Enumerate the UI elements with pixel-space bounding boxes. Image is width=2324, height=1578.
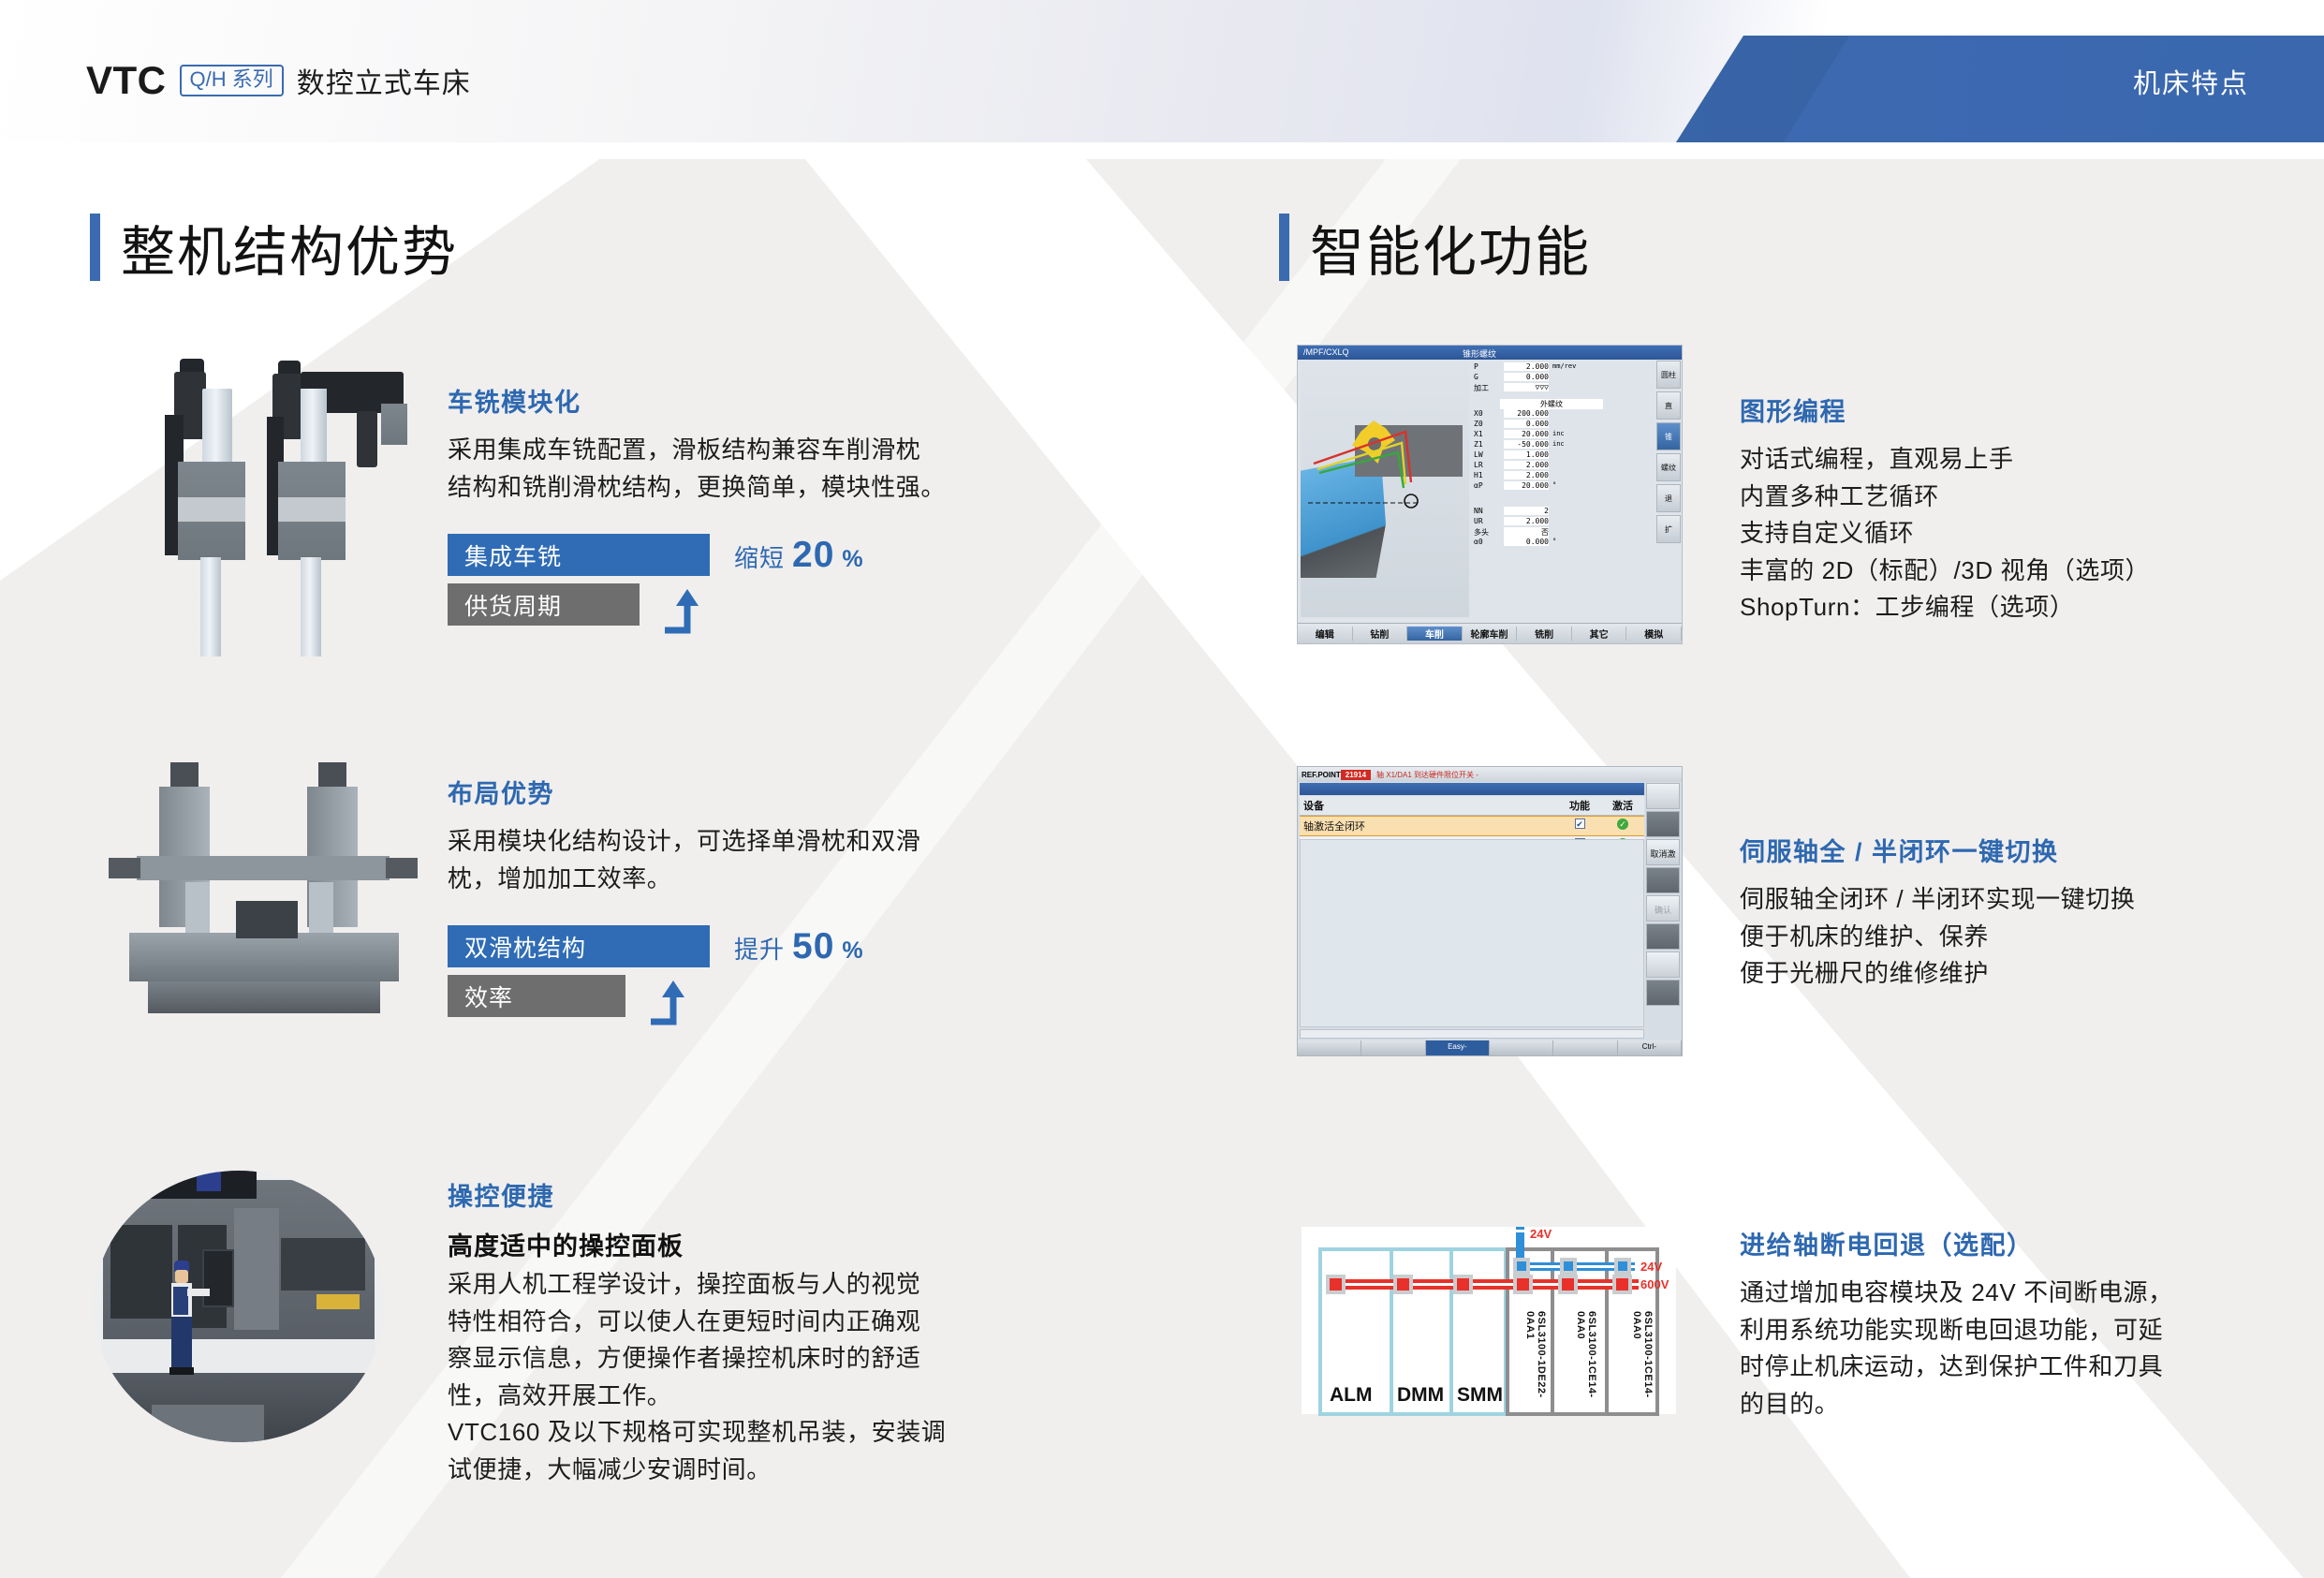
- cnc-param-key: Z0: [1474, 420, 1483, 428]
- cnc-toolpath-overlay: [1301, 362, 1469, 617]
- trend-arrow-icon: [663, 589, 715, 634]
- bar-note: 提升 50 %: [734, 926, 864, 967]
- label-24v-supply: 24V: [1530, 1227, 1552, 1241]
- feature-body: 伺服轴全闭环 / 半闭环实现一键切换 便于机床的维护、保养 便于光栅尺的维修维护: [1740, 881, 2245, 993]
- connector-24v: [1614, 1258, 1631, 1275]
- connector-600v: [1558, 1275, 1578, 1294]
- servo-col-function: 功能: [1558, 796, 1601, 815]
- feature-title: 布局优势: [448, 774, 972, 810]
- cnc-softkey[interactable]: 车削: [1407, 627, 1463, 641]
- feature-body: 采用模块化结构设计，可选择单滑枕和双滑 枕，增加加工效率。: [448, 823, 972, 897]
- cnc-path-title: /MPF/CXLQ: [1303, 347, 1349, 357]
- diagram-power-modules: 24V 24V 600V ALM DMM SMM 6SL3100-: [1302, 1227, 1676, 1414]
- connector-24v: [1560, 1258, 1577, 1275]
- cnc-vertical-softkey[interactable]: 退: [1656, 484, 1681, 512]
- bar-note-value: 20: [792, 535, 834, 576]
- cnc-param-row[interactable]: αP20.000°: [1472, 481, 1612, 492]
- feature-subtitle: 高度适中的操控面板: [448, 1226, 972, 1262]
- cnc-param-unit: °: [1552, 538, 1556, 545]
- cnc-vertical-softkeys[interactable]: 圆柱直锥螺纹退扩: [1656, 361, 1681, 546]
- page-header: VTC Q/H 系列 数控立式车床 机床特点: [0, 0, 2324, 142]
- servo-softkey[interactable]: [1646, 923, 1680, 950]
- feature-block-layout: 布局优势 采用模块化结构设计，可选择单滑枕和双滑 枕，增加加工效率。 双滑枕结构…: [448, 774, 972, 1017]
- cnc-param-row[interactable]: G0.000: [1472, 373, 1612, 383]
- section-title-left: 整机结构优势: [90, 208, 458, 287]
- feature-title: 进给轴断电回退（选配）: [1740, 1225, 2264, 1261]
- cnc-softkey[interactable]: 轮廓车削: [1463, 627, 1518, 641]
- cnc-vertical-softkey[interactable]: 扩: [1656, 515, 1681, 543]
- bar-chart-turn-mill: 集成车铣 缩短 20 % 供货周期: [448, 534, 972, 626]
- feature-title: 操控便捷: [448, 1176, 972, 1213]
- connector-24v: [1513, 1258, 1530, 1275]
- feature-body: 通过增加电容模块及 24V 不间断电源， 利用系统功能实现断电回退功能，可延 时…: [1740, 1275, 2264, 1423]
- servo-softkey[interactable]: [1646, 980, 1680, 1006]
- servo-row-func[interactable]: ✔: [1558, 817, 1601, 835]
- cnc-parameter-list: P2.000mm/revG0.000加工▽▽▽外螺纹X0200.000Z00.0…: [1472, 362, 1612, 610]
- cnc-param-key: 加工: [1474, 383, 1489, 393]
- servo-content-area: [1300, 839, 1644, 1027]
- brand-name: VTC: [86, 58, 167, 103]
- cnc-param-row[interactable]: P2.000mm/rev: [1472, 362, 1612, 373]
- label-600v-bus: 600V: [1640, 1277, 1669, 1291]
- connector-600v: [1612, 1275, 1632, 1294]
- cnc-param-unit: inc: [1552, 430, 1565, 437]
- cnc-param-row[interactable]: X120.000inc: [1472, 430, 1612, 440]
- bar-note-prefix: 缩短: [734, 539, 785, 574]
- servo-softkey[interactable]: [1646, 951, 1680, 978]
- cnc-param-value[interactable]: -50.000: [1504, 440, 1549, 449]
- servo-footer-cell[interactable]: [1553, 1040, 1617, 1055]
- cnc-param-key: 多头: [1474, 527, 1489, 538]
- cnc-softkey[interactable]: 编辑: [1298, 627, 1353, 641]
- cnc-thread-type[interactable]: 外螺纹: [1472, 399, 1612, 409]
- servo-alarm-text: 轴 X1/DA1 到达硬件限位开关 -: [1376, 770, 1478, 780]
- cnc-softkey[interactable]: 钻削: [1353, 627, 1408, 641]
- cnc-param-unit: mm/rev: [1552, 362, 1576, 370]
- bar-chart-layout: 双滑枕结构 提升 50 % 效率: [448, 925, 972, 1017]
- series-badge: Q/H 系列: [180, 65, 284, 96]
- cnc-horizontal-softkeys[interactable]: 编辑钻削车削轮廓车削铣削其它模拟: [1298, 623, 1682, 643]
- feature-title: 图形编程: [1740, 391, 2227, 428]
- servo-footer-easy[interactable]: Easy-: [1426, 1040, 1490, 1055]
- cnc-param-value[interactable]: 0.000: [1504, 538, 1549, 546]
- cnc-vertical-softkey[interactable]: 圆柱: [1656, 361, 1681, 389]
- bar-secondary: 供货周期: [448, 583, 640, 626]
- servo-footer-cell[interactable]: [1490, 1040, 1553, 1055]
- feature-body: 对话式编程，直观易上手 内置多种工艺循环 支持自定义循环 丰富的 2D（标配）/…: [1740, 441, 2227, 627]
- cnc-param-key: G: [1474, 373, 1478, 381]
- cnc-param-key: NN: [1474, 507, 1483, 515]
- feature-block-turn-mill: 车铣模块化 采用集成车铣配置，滑板结构兼容车削滑枕 结构和铣削滑枕结构，更换简单…: [448, 382, 972, 626]
- bar-note: 缩短 20 %: [734, 535, 864, 576]
- servo-footer-cell[interactable]: [1298, 1040, 1361, 1055]
- connector-600v: [1326, 1275, 1346, 1294]
- cnc-param-value[interactable]: 2.000: [1504, 471, 1549, 479]
- cnc-param-row[interactable]: 加工▽▽▽: [1472, 383, 1612, 393]
- cnc-param-key: X0: [1474, 409, 1483, 418]
- feature-block-servo-loop: 伺服轴全 / 半闭环一键切换 伺服轴全闭环 / 半闭环实现一键切换 便于机床的维…: [1740, 832, 2245, 993]
- servo-col-device: 设备: [1300, 796, 1558, 815]
- brand-lockup: VTC Q/H 系列 数控立式车床: [86, 58, 471, 103]
- servo-alarm-code: 21914: [1341, 770, 1371, 780]
- cnc-param-row[interactable]: H12.000: [1472, 471, 1612, 481]
- servo-row-name: 轴激活全闭环: [1300, 817, 1558, 835]
- servo-statusbar: REF.POINT 21914 轴 X1/DA1 到达硬件限位开关 -: [1298, 767, 1682, 782]
- servo-col-active: 激活: [1601, 796, 1644, 815]
- cnc-softkey[interactable]: 模拟: [1626, 627, 1682, 641]
- cnc-param-key: αP: [1474, 481, 1483, 490]
- cnc-vertical-softkey[interactable]: 直: [1656, 391, 1681, 420]
- part-number-3: 6SL3100-1CE14-0AA0: [1631, 1311, 1654, 1414]
- header-section-label: 机床特点: [2133, 62, 2249, 101]
- servo-row-active: ✓: [1601, 817, 1644, 835]
- cnc-param-key: UR: [1474, 517, 1483, 525]
- servo-horizontal-scrollbar[interactable]: [1300, 1029, 1644, 1039]
- cnc-param-unit: °: [1552, 481, 1556, 489]
- cnc-param-row[interactable]: X0200.000: [1472, 409, 1612, 420]
- servo-footer-bar[interactable]: Easy- Ctrl-: [1298, 1040, 1682, 1055]
- bar-note-unit: %: [842, 937, 863, 965]
- feature-block-graphic-programming: 图形编程 对话式编程，直观易上手 内置多种工艺循环 支持自定义循环 丰富的 2D…: [1740, 391, 2227, 627]
- feature-block-operation: 操控便捷 高度适中的操控面板 采用人机工程学设计，操控面板与人的视觉 特性相符合…: [448, 1176, 972, 1488]
- cnc-param-key: LR: [1474, 461, 1483, 469]
- page-root: VTC Q/H 系列 数控立式车床 机床特点 整机结构优势 智能化功能: [0, 0, 2324, 1578]
- cnc-param-value[interactable]: 2: [1504, 507, 1549, 515]
- module-label-smm: SMM: [1457, 1384, 1503, 1407]
- cnc-param-row[interactable]: 多头否: [1472, 527, 1612, 538]
- cnc-param-value[interactable]: 200.000: [1504, 409, 1549, 418]
- trend-arrow-icon: [649, 981, 701, 1025]
- bar-note-value: 50: [792, 926, 834, 967]
- cnc-softkey[interactable]: 其它: [1572, 627, 1627, 641]
- servo-footer-ctrl[interactable]: Ctrl-: [1618, 1040, 1682, 1055]
- cnc-param-row[interactable]: Z00.000: [1472, 420, 1612, 430]
- cnc-param-key: Z1: [1474, 440, 1483, 449]
- cnc-param-value[interactable]: 2.000: [1504, 461, 1549, 469]
- cnc-param-row[interactable]: LR2.000: [1472, 461, 1612, 471]
- section-title-text: 整机结构优势: [121, 208, 458, 287]
- cnc-param-value[interactable]: ▽▽▽: [1504, 383, 1549, 391]
- part-number-1: 6SL3100-1DE22-0AA1: [1524, 1311, 1547, 1414]
- section-accent-bar: [1279, 214, 1289, 281]
- servo-title-band: [1300, 783, 1644, 795]
- section-title-text: 智能化功能: [1310, 208, 1591, 287]
- cnc-vertical-softkey[interactable]: 螺纹: [1656, 453, 1681, 481]
- cnc-param-value[interactable]: 20.000: [1504, 481, 1549, 490]
- servo-softkey[interactable]: [1646, 867, 1680, 893]
- servo-softkey[interactable]: [1646, 811, 1680, 837]
- connector-600v: [1513, 1275, 1533, 1294]
- servo-footer-cell[interactable]: [1361, 1040, 1425, 1055]
- bar-secondary: 效率: [448, 975, 625, 1017]
- bar-note-unit: %: [842, 546, 863, 573]
- cnc-param-row[interactable]: Z1-50.000inc: [1472, 440, 1612, 450]
- cnc-param-value[interactable]: 0.000: [1504, 373, 1549, 381]
- cnc-softkey[interactable]: 铣削: [1517, 627, 1572, 641]
- cnc-param-value[interactable]: 0.000: [1504, 420, 1549, 428]
- module-label-dmm: DMM: [1397, 1384, 1444, 1407]
- cnc-param-value[interactable]: 否: [1504, 527, 1549, 538]
- cnc-vertical-softkey[interactable]: 锥: [1656, 422, 1681, 450]
- cnc-param-unit: inc: [1552, 440, 1565, 448]
- part-number-2: 6SL3100-1CE14-0AA0: [1575, 1311, 1597, 1414]
- servo-softkey-deactivate[interactable]: 取消激: [1646, 839, 1680, 865]
- connector-600v: [1453, 1275, 1473, 1294]
- servo-table-header: 设备 功能 激活: [1300, 796, 1644, 816]
- cnc-param-row[interactable]: α00.000°: [1472, 538, 1612, 548]
- feature-body: 采用集成车铣配置，滑板结构兼容车削滑枕 结构和铣削滑枕结构，更换简单，模块性强。: [448, 432, 972, 506]
- screenshot-servo-dialog: REF.POINT 21914 轴 X1/DA1 到达硬件限位开关 - 设备 功…: [1297, 766, 1683, 1056]
- servo-softkey[interactable]: [1646, 783, 1680, 809]
- brand-subtitle: 数控立式车床: [297, 60, 471, 101]
- cnc-param-row[interactable]: NN2: [1472, 507, 1612, 517]
- cnc-param-value[interactable]: 1.000: [1504, 450, 1549, 459]
- cnc-graphic-area: [1301, 362, 1469, 617]
- feature-title: 车铣模块化: [448, 382, 972, 419]
- table-row[interactable]: 轴激活全闭环 ✔ ✓: [1300, 816, 1644, 836]
- module-label-alm: ALM: [1330, 1384, 1373, 1407]
- cnc-param-row[interactable]: LW1.000: [1472, 450, 1612, 461]
- illustration-turn-mill-module: [122, 351, 431, 660]
- screenshot-cnc-programming: /MPF/CXLQ 锥形螺纹 P2.000mm/revG0.000加工▽▽▽外螺…: [1297, 345, 1683, 644]
- cnc-param-key: LW: [1474, 450, 1483, 459]
- cnc-panel-title: 锥形螺纹: [1463, 347, 1496, 360]
- cnc-param-row[interactable]: UR2.000: [1472, 517, 1612, 527]
- section-title-right: 智能化功能: [1279, 208, 1591, 287]
- cnc-param-value[interactable]: 2.000: [1504, 362, 1549, 371]
- section-accent-bar: [90, 214, 100, 281]
- cnc-param-key: α0: [1474, 538, 1483, 546]
- servo-softkey-confirm[interactable]: 确认: [1646, 895, 1680, 922]
- feature-block-power-failure-retract: 进给轴断电回退（选配） 通过增加电容模块及 24V 不间断电源， 利用系统功能实…: [1740, 1225, 2264, 1423]
- servo-refpoint-label: REF.POINT: [1298, 771, 1341, 779]
- cnc-param-key: X1: [1474, 430, 1483, 438]
- cnc-param-value[interactable]: 2.000: [1504, 517, 1549, 525]
- bar-primary: 双滑枕结构: [448, 925, 710, 967]
- feature-title: 伺服轴全 / 半闭环一键切换: [1740, 832, 2245, 868]
- connector-600v: [1393, 1275, 1413, 1294]
- cnc-param-key: H1: [1474, 471, 1483, 479]
- illustration-gantry-layout: [105, 759, 433, 1030]
- feature-body: 采用人机工程学设计，操控面板与人的视觉 特性相符合，可以使人在更短时间内正确观 …: [448, 1266, 972, 1488]
- bar-note-prefix: 提升: [734, 931, 785, 966]
- cnc-param-value[interactable]: 20.000: [1504, 430, 1549, 438]
- servo-vertical-softkeys[interactable]: 取消激 确认: [1646, 783, 1680, 1008]
- cnc-param-key: P: [1474, 362, 1478, 371]
- label-24v-bus: 24V: [1640, 1260, 1662, 1274]
- photo-operator-panel: [94, 1171, 384, 1442]
- bar-primary: 集成车铣: [448, 534, 710, 576]
